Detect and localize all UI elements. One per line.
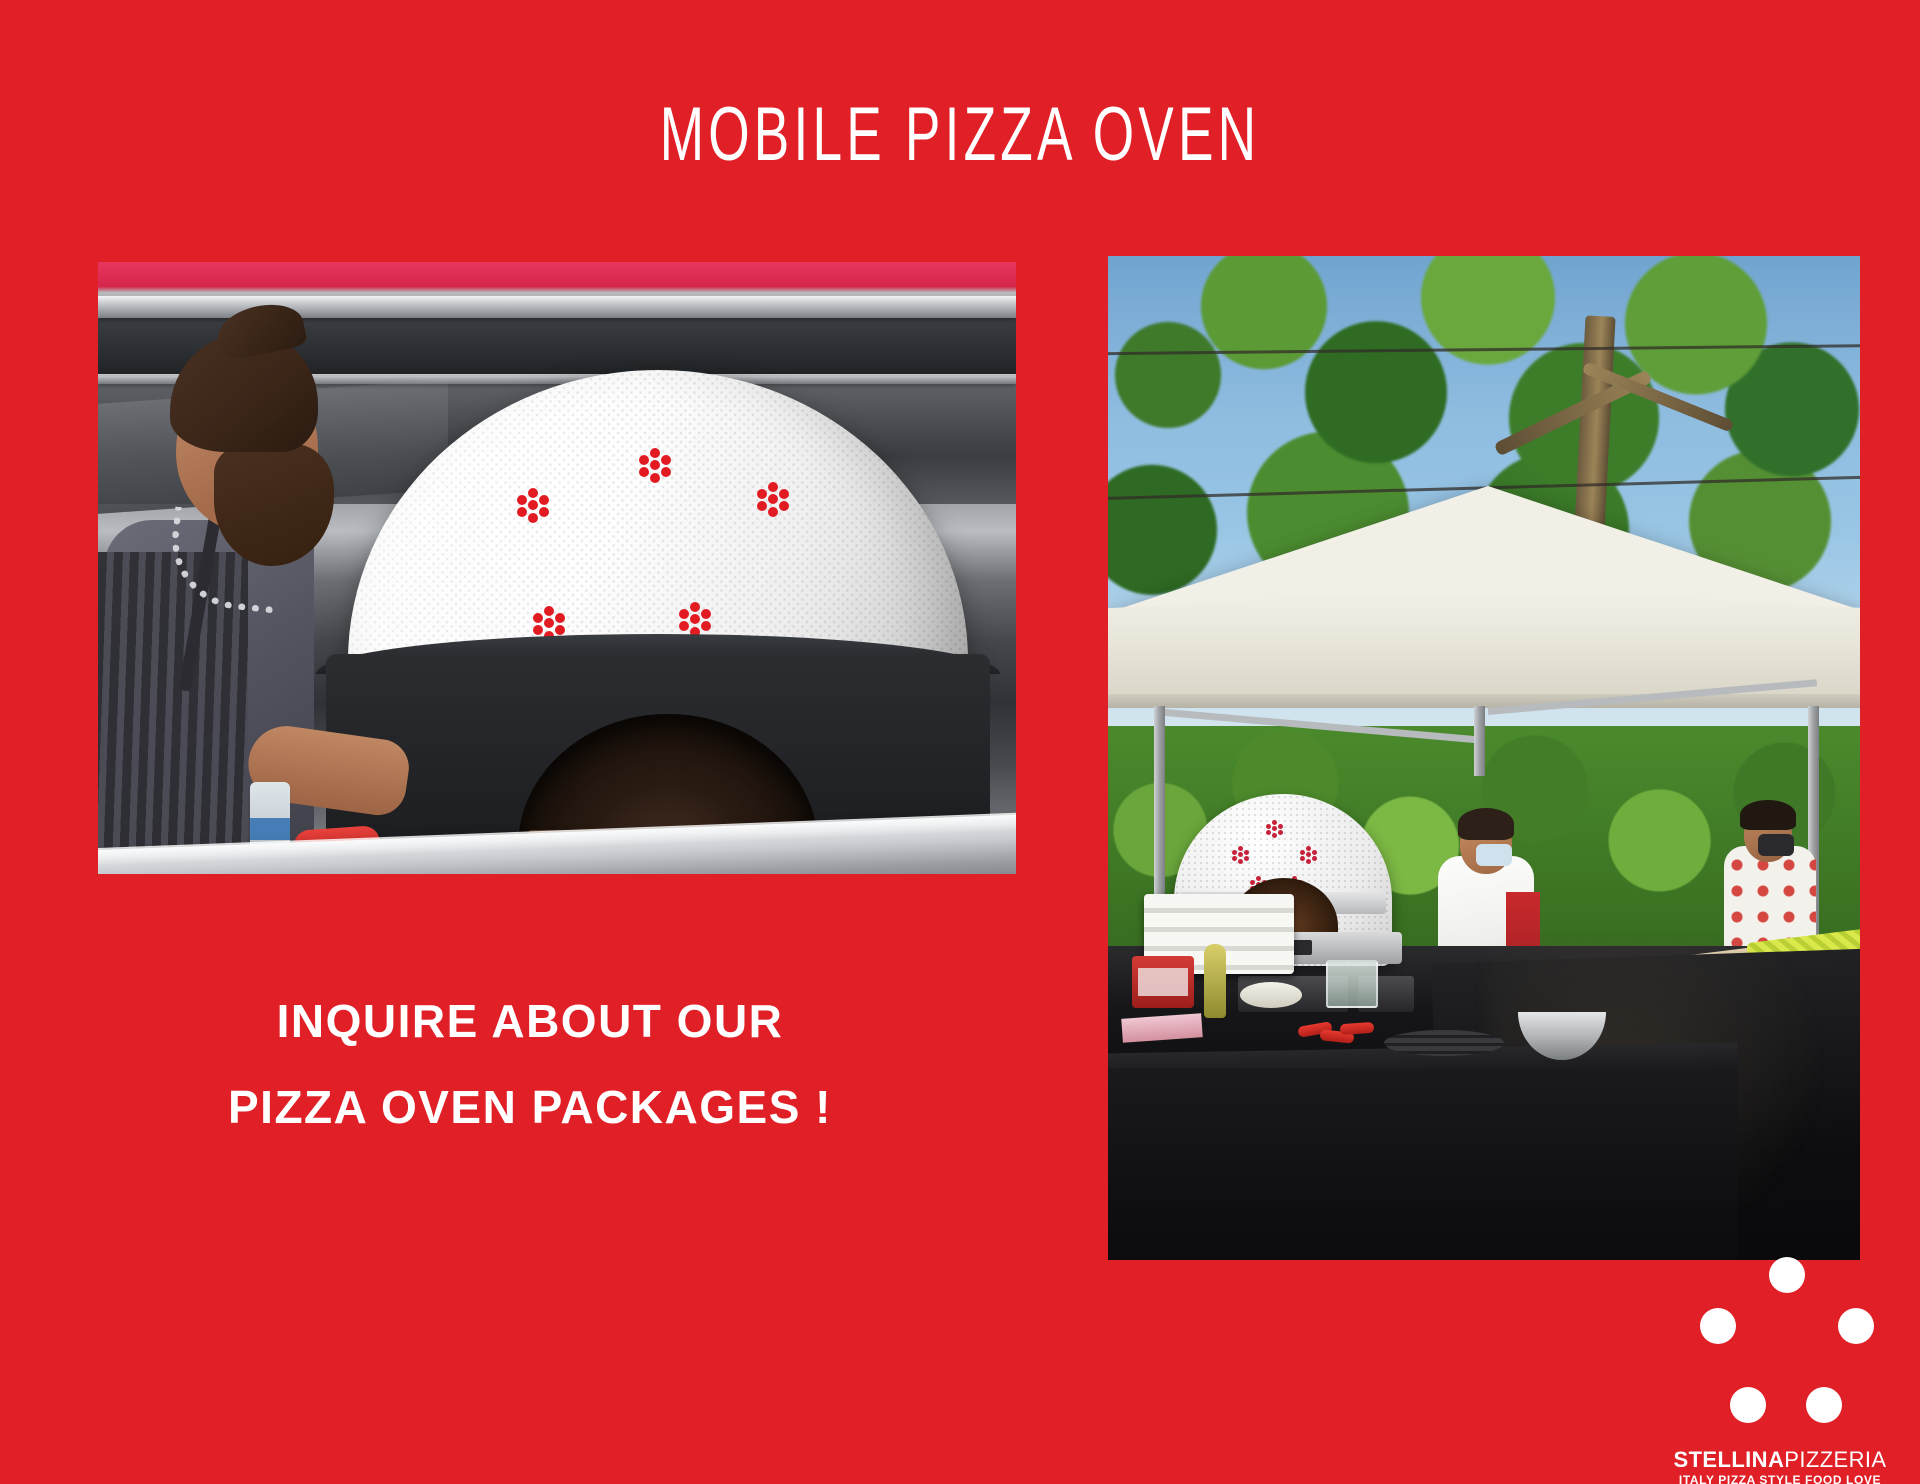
- oven-flower-icon: [638, 448, 672, 482]
- face-mask-icon: [1476, 844, 1512, 866]
- cta-text-block: INQUIRE ABOUT OUR PIZZA OVEN PACKAGES !: [140, 978, 920, 1150]
- logo-dot-left: [1700, 1308, 1736, 1344]
- oven-flower-icon: [516, 488, 550, 522]
- canopy-pole: [1474, 706, 1485, 776]
- dough-ball: [1240, 982, 1302, 1008]
- oven-flower-icon: [1266, 820, 1284, 838]
- oil-squeeze-bottle: [1204, 944, 1226, 1018]
- chef-hair: [1458, 808, 1514, 840]
- stellina-pizzeria-logo: STELLINAPIZZERIA ITALY PIZZA STYLE FOOD …: [1640, 1255, 1920, 1484]
- photo-pizzaiolo-at-mobile-oven: [98, 262, 1016, 874]
- plate-stack: [1384, 1030, 1504, 1056]
- oven-flower-icon: [1232, 846, 1250, 864]
- chili-peppers: [1298, 1022, 1378, 1048]
- logo-dot-bottom-left: [1730, 1387, 1766, 1423]
- face-mask-icon: [1758, 834, 1794, 856]
- page-title: MOBILE PIZZA OVEN: [288, 96, 1632, 174]
- cta-line-two: PIZZA OVEN PACKAGES !: [140, 1064, 920, 1150]
- bottle-label: [250, 818, 290, 840]
- oven-flower-icon: [756, 482, 790, 516]
- cooler-label: [1138, 968, 1188, 996]
- worker-two-hair: [1740, 800, 1796, 830]
- oven-flower-icon: [678, 602, 712, 636]
- logo-dot-bottom-right: [1806, 1387, 1842, 1423]
- clear-container: [1326, 960, 1378, 1008]
- photo-outdoor-catering-setup: [1108, 256, 1860, 1260]
- logo-name-bold: STELLINA: [1674, 1447, 1785, 1472]
- logo-dot-top: [1769, 1257, 1805, 1293]
- poster-canvas: MOBILE PIZZA OVEN: [0, 0, 1920, 1484]
- five-dot-flower-icon: [1692, 1255, 1882, 1385]
- oven-flower-icon: [1300, 846, 1318, 864]
- cta-line-one: INQUIRE ABOUT OUR: [140, 978, 920, 1064]
- black-tablecloth: [1108, 1068, 1738, 1260]
- logo-wordmark: STELLINAPIZZERIA: [1640, 1447, 1920, 1473]
- logo-tagline: ITALY PIZZA STYLE FOOD LOVE: [1640, 1473, 1920, 1484]
- logo-name-light: PIZZERIA: [1784, 1447, 1886, 1472]
- logo-dot-right: [1838, 1308, 1874, 1344]
